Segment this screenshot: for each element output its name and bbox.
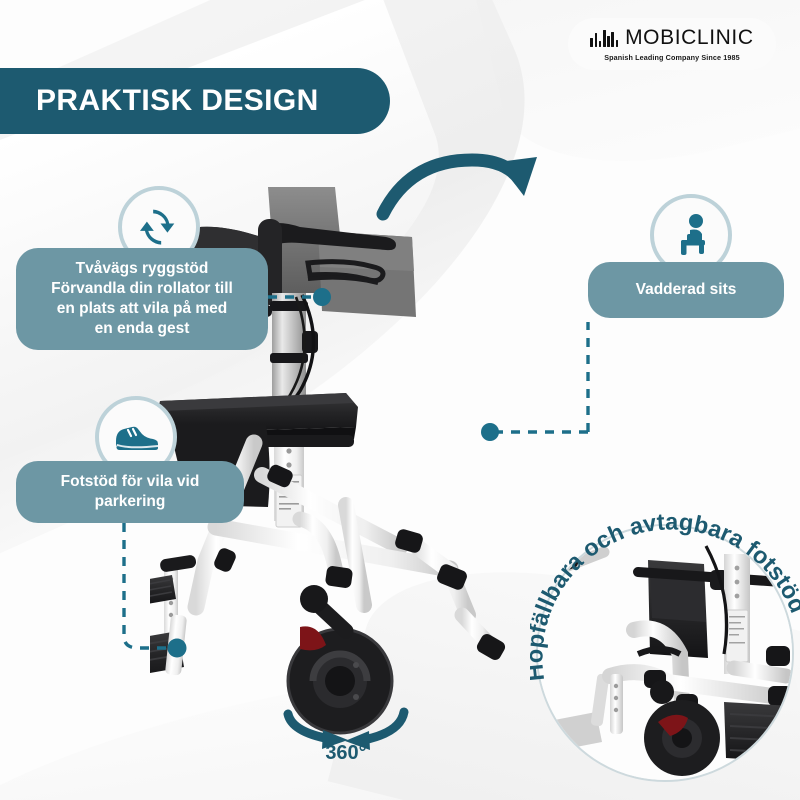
sneaker-shoe-icon xyxy=(112,417,160,457)
svg-text:Hopfällbara och avtagbara fots: Hopfällbara och avtagbara fotstöd xyxy=(530,510,800,682)
page-title: PRAKTISK DESIGN xyxy=(36,84,319,118)
brand-logo[interactable]: MOBICLINIC Spanish Leading Company Since… xyxy=(568,18,776,70)
inset-detail: Hopfällbara och avtagbara fotstöd xyxy=(536,524,794,782)
feature-card-backrest-label: Tvåvägs ryggstöd Förvandla din rollator … xyxy=(51,259,233,338)
refresh-cycle-icon xyxy=(136,204,182,250)
feature-card-backrest[interactable]: Tvåvägs ryggstöd Förvandla din rollator … xyxy=(16,248,268,350)
brand-tagline: Spanish Leading Company Since 1985 xyxy=(604,53,740,62)
page-title-banner: PRAKTISK DESIGN xyxy=(0,68,390,134)
brand-name: MOBICLINIC xyxy=(625,26,754,50)
inset-arc-text: Hopfällbara och avtagbara fotstöd xyxy=(530,510,800,790)
inset-arc-text-label: Hopfällbara och avtagbara fotstöd xyxy=(530,510,800,682)
feature-card-seat[interactable]: Vadderad sits xyxy=(588,262,784,318)
seated-person-icon xyxy=(669,212,713,258)
feature-card-footrest-label: Fotstöd för vila vid parkering xyxy=(61,472,200,512)
rotation-label: 360° xyxy=(300,742,392,765)
feature-card-footrest[interactable]: Fotstöd för vila vid parkering xyxy=(16,461,244,523)
feature-card-seat-label: Vadderad sits xyxy=(636,280,737,300)
equalizer-bars-icon xyxy=(590,30,618,47)
infographic-canvas: 360° Tvåvägs ryggstöd Förvandla din roll… xyxy=(0,0,800,800)
